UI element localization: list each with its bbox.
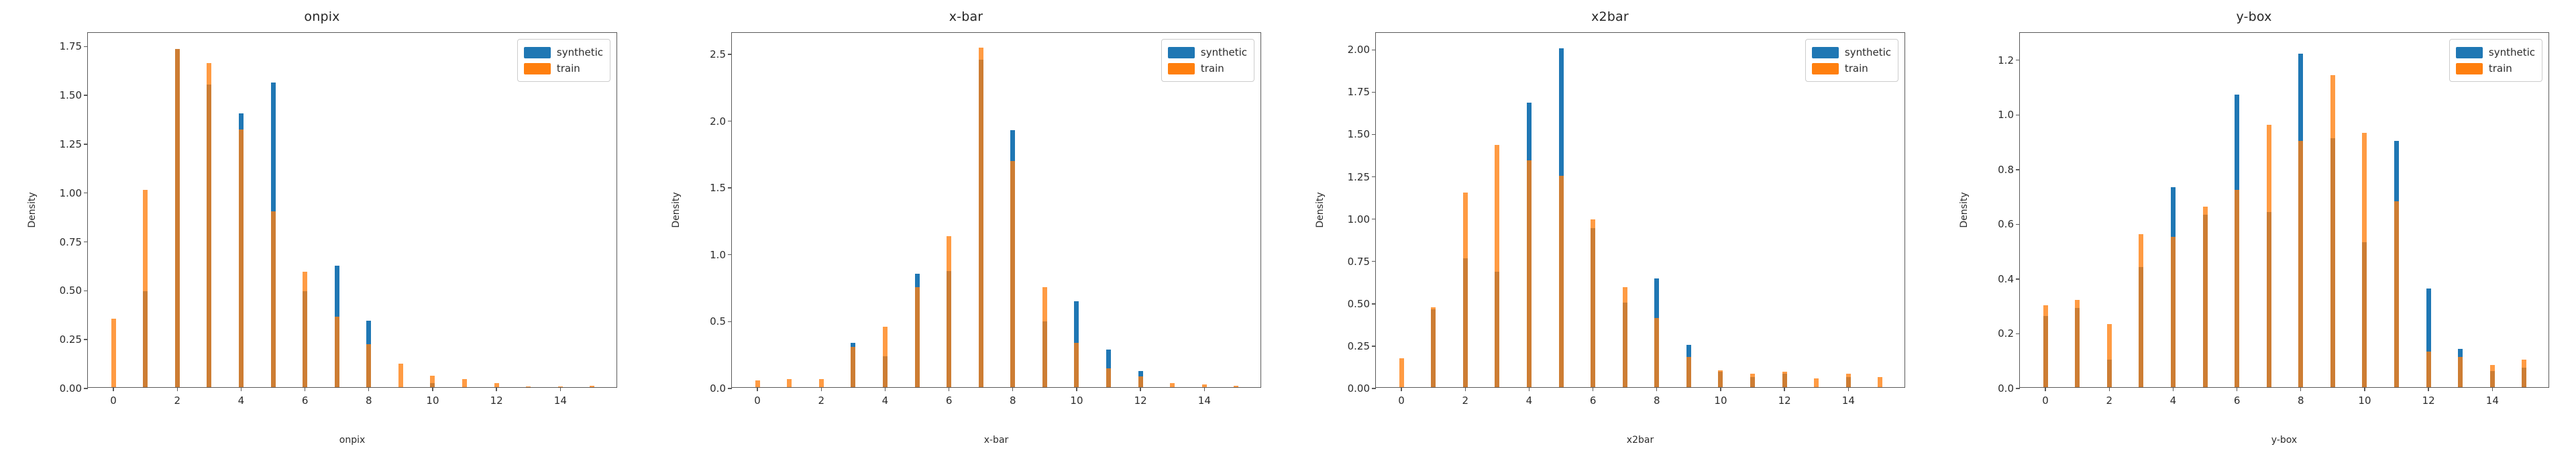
x-axis-label: x-bar	[984, 435, 1009, 446]
panel-x-bar: x-barDensityx-bar0.00.51.01.52.02.502468…	[644, 0, 1288, 471]
panel-y-box: y-boxDensityy-box0.00.20.40.60.81.01.202…	[1932, 0, 2576, 471]
legend: synthetictrain	[1805, 39, 1898, 82]
legend-label: train	[2489, 62, 2512, 74]
x-tick-label: 0	[110, 395, 117, 407]
x-tick-mark	[1140, 387, 1140, 391]
bar-train	[2362, 133, 2367, 387]
bar-train	[1814, 378, 1819, 387]
x-tick-mark	[821, 387, 822, 391]
x-tick-label: 0	[2042, 395, 2049, 407]
bars-layer	[732, 33, 1260, 387]
x-tick-label: 14	[554, 395, 567, 407]
legend-label: synthetic	[1845, 46, 1891, 58]
bar-train	[430, 376, 435, 387]
x-tick-label: 10	[426, 395, 439, 407]
x-tick-mark	[2045, 387, 2045, 391]
x-tick-label: 2	[1462, 395, 1468, 407]
bar-train	[755, 380, 760, 387]
bar-train	[526, 386, 531, 387]
bar-train	[851, 347, 855, 387]
bar-train	[1042, 287, 1047, 387]
x-tick-label: 2	[174, 395, 180, 407]
x-tick-label: 12	[1134, 395, 1147, 407]
figure-canvas: onpixDensityonpix0.000.250.500.751.001.2…	[0, 0, 2576, 471]
x-tick-label: 0	[754, 395, 761, 407]
bar-train	[2235, 190, 2239, 387]
x-tick-mark	[560, 387, 561, 391]
bar-train	[207, 63, 211, 387]
bar-train	[1170, 383, 1175, 387]
bar-train	[398, 364, 403, 387]
panel-onpix: onpixDensityonpix0.000.250.500.751.001.2…	[0, 0, 644, 471]
legend-item-synthetic[interactable]: synthetic	[1168, 44, 1247, 60]
y-axis-label: Density	[1959, 192, 1970, 227]
legend-label: train	[557, 62, 580, 74]
x-tick-mark	[2492, 387, 2493, 391]
x-tick-label: 14	[2486, 395, 2499, 407]
x-tick-mark	[1720, 387, 1721, 391]
bar-train	[2267, 125, 2271, 387]
bar-train	[2522, 360, 2526, 387]
x-tick-mark	[1593, 387, 1593, 391]
bar-train	[2171, 237, 2176, 387]
x-tick-label: 8	[366, 395, 372, 407]
bars-layer	[88, 33, 616, 387]
x-tick-mark	[949, 387, 949, 391]
bar-train	[1463, 193, 1468, 387]
bar-train	[1234, 386, 1238, 387]
y-tick-mark	[84, 388, 88, 388]
legend-swatch-synthetic	[1812, 47, 1839, 58]
bar-train	[1623, 287, 1627, 387]
bar-train	[111, 319, 116, 387]
bar-train	[2107, 324, 2112, 387]
x-tick-label: 2	[2106, 395, 2112, 407]
x-tick-label: 12	[1778, 395, 1791, 407]
bar-train	[979, 48, 983, 387]
x-tick-label: 10	[1714, 395, 1727, 407]
legend-item-synthetic[interactable]: synthetic	[1812, 44, 1891, 60]
x-tick-label: 0	[1398, 395, 1405, 407]
legend-item-train[interactable]: train	[2456, 60, 2535, 76]
x-axis-label: y-box	[2271, 435, 2297, 446]
x-tick-mark	[2428, 387, 2428, 391]
x-tick-label: 6	[2234, 395, 2241, 407]
bar-train	[1106, 368, 1111, 387]
plot-area: 0.000.250.500.751.001.251.501.752.000246…	[1375, 32, 1905, 388]
plot-area: 0.00.51.01.52.02.502468101214synthetictr…	[731, 32, 1261, 388]
x-axis-label: onpix	[339, 435, 366, 446]
bar-train	[494, 383, 499, 387]
y-tick-mark	[728, 388, 732, 388]
bar-train	[239, 129, 244, 387]
x-tick-label: 4	[2170, 395, 2177, 407]
bar-train	[1846, 374, 1851, 387]
bar-train	[1527, 160, 1532, 387]
panel-title: x-bar	[644, 9, 1288, 24]
x-tick-label: 8	[2298, 395, 2304, 407]
x-tick-label: 8	[1654, 395, 1660, 407]
x-tick-mark	[113, 387, 113, 391]
bar-train	[335, 317, 339, 387]
legend-swatch-train	[2456, 63, 2483, 74]
x-tick-mark	[1012, 387, 1013, 391]
x-tick-label: 6	[302, 395, 309, 407]
bar-train	[462, 379, 467, 387]
legend-item-train[interactable]: train	[524, 60, 603, 76]
bar-train	[2490, 365, 2495, 387]
x-tick-mark	[2364, 387, 2365, 391]
x-tick-mark	[368, 387, 369, 391]
bar-train	[1750, 374, 1755, 387]
y-axis-label: Density	[1315, 192, 1326, 227]
bar-train	[819, 379, 824, 387]
legend-swatch-train	[1168, 63, 1195, 74]
legend-item-train[interactable]: train	[1168, 60, 1247, 76]
x-tick-mark	[2109, 387, 2110, 391]
legend-label: synthetic	[557, 46, 603, 58]
x-tick-label: 14	[1842, 395, 1855, 407]
x-tick-mark	[2173, 387, 2173, 391]
x-tick-label: 6	[946, 395, 953, 407]
legend-swatch-synthetic	[2456, 47, 2483, 58]
x-tick-label: 4	[882, 395, 889, 407]
bar-train	[1202, 384, 1207, 387]
x-tick-mark	[1401, 387, 1401, 391]
panel-title: y-box	[1932, 9, 2576, 24]
y-tick-mark	[1372, 388, 1376, 388]
bars-layer	[2020, 33, 2548, 387]
legend-label: synthetic	[2489, 46, 2535, 58]
bar-train	[787, 379, 792, 387]
bar-train	[1654, 318, 1659, 387]
bar-train	[2075, 300, 2080, 387]
x-tick-label: 10	[2358, 395, 2371, 407]
bar-train	[1495, 145, 1499, 387]
legend-item-synthetic[interactable]: synthetic	[2456, 44, 2535, 60]
x-tick-mark	[1076, 387, 1077, 391]
x-tick-mark	[432, 387, 433, 391]
legend: synthetictrain	[2449, 39, 2542, 82]
bar-train	[2394, 201, 2399, 387]
x-tick-label: 10	[1070, 395, 1083, 407]
x-tick-label: 14	[1198, 395, 1211, 407]
bar-train	[2298, 141, 2303, 387]
x-tick-mark	[1848, 387, 1849, 391]
x-tick-mark	[1529, 387, 1529, 391]
bar-train	[1010, 161, 1015, 387]
x-tick-label: 2	[818, 395, 824, 407]
x-tick-label: 8	[1010, 395, 1016, 407]
bar-train	[366, 344, 371, 387]
legend-swatch-synthetic	[524, 47, 551, 58]
plot-area: 0.00.20.40.60.81.01.202468101214syntheti…	[2019, 32, 2549, 388]
panel-title: onpix	[0, 9, 644, 24]
bar-train	[175, 49, 180, 387]
legend-item-synthetic[interactable]: synthetic	[524, 44, 603, 60]
x-tick-label: 12	[2422, 395, 2435, 407]
x-tick-mark	[1656, 387, 1657, 391]
x-tick-mark	[2237, 387, 2237, 391]
legend: synthetictrain	[1161, 39, 1254, 82]
x-tick-mark	[496, 387, 496, 391]
bar-train	[915, 287, 920, 387]
legend-swatch-train	[1812, 63, 1839, 74]
bar-train	[1138, 376, 1143, 387]
bar-train	[2043, 305, 2048, 387]
legend-label: synthetic	[1201, 46, 1247, 58]
bar-train	[2426, 352, 2431, 387]
bar-train	[1718, 370, 1723, 387]
bar-train	[303, 272, 307, 387]
bar-train	[2203, 207, 2208, 387]
x-tick-mark	[305, 387, 305, 391]
x-tick-mark	[2300, 387, 2301, 391]
x-tick-mark	[241, 387, 241, 391]
bar-train	[1782, 372, 1787, 387]
x-tick-label: 12	[490, 395, 503, 407]
x-tick-mark	[177, 387, 178, 391]
legend-label: train	[1845, 62, 1868, 74]
bar-train	[558, 386, 563, 387]
bars-layer	[1376, 33, 1904, 387]
y-axis-label: Density	[27, 192, 38, 227]
x-axis-label: x2bar	[1627, 435, 1654, 446]
x-tick-label: 6	[1590, 395, 1597, 407]
y-axis-label: Density	[671, 192, 682, 227]
x-tick-label: 4	[238, 395, 245, 407]
x-tick-mark	[1465, 387, 1466, 391]
legend-swatch-train	[524, 63, 551, 74]
panel-x2bar: x2barDensityx2bar0.000.250.500.751.001.2…	[1288, 0, 1932, 471]
bar-train	[2330, 75, 2335, 387]
bar-train	[947, 236, 951, 387]
legend-item-train[interactable]: train	[1812, 60, 1891, 76]
legend: synthetictrain	[517, 39, 610, 82]
bar-train	[143, 190, 148, 387]
bar-train	[1878, 377, 1882, 387]
bar-train	[1399, 358, 1404, 387]
plot-area: 0.000.250.500.751.001.251.501.7502468101…	[87, 32, 617, 388]
bar-train	[1431, 307, 1436, 387]
bar-train	[2458, 357, 2463, 387]
x-tick-mark	[1204, 387, 1205, 391]
bar-train	[1591, 219, 1595, 387]
bar-train	[1686, 357, 1691, 387]
bar-train	[1559, 176, 1564, 387]
bar-train	[590, 386, 594, 387]
legend-label: train	[1201, 62, 1224, 74]
panel-title: x2bar	[1288, 9, 1932, 24]
x-tick-label: 4	[1526, 395, 1533, 407]
bar-train	[271, 211, 276, 387]
bar-train	[1074, 343, 1079, 387]
legend-swatch-synthetic	[1168, 47, 1195, 58]
y-tick-mark	[2016, 388, 2020, 388]
x-tick-mark	[885, 387, 885, 391]
x-tick-mark	[757, 387, 757, 391]
bar-train	[2139, 234, 2143, 387]
bar-train	[883, 327, 888, 387]
x-tick-mark	[1784, 387, 1784, 391]
